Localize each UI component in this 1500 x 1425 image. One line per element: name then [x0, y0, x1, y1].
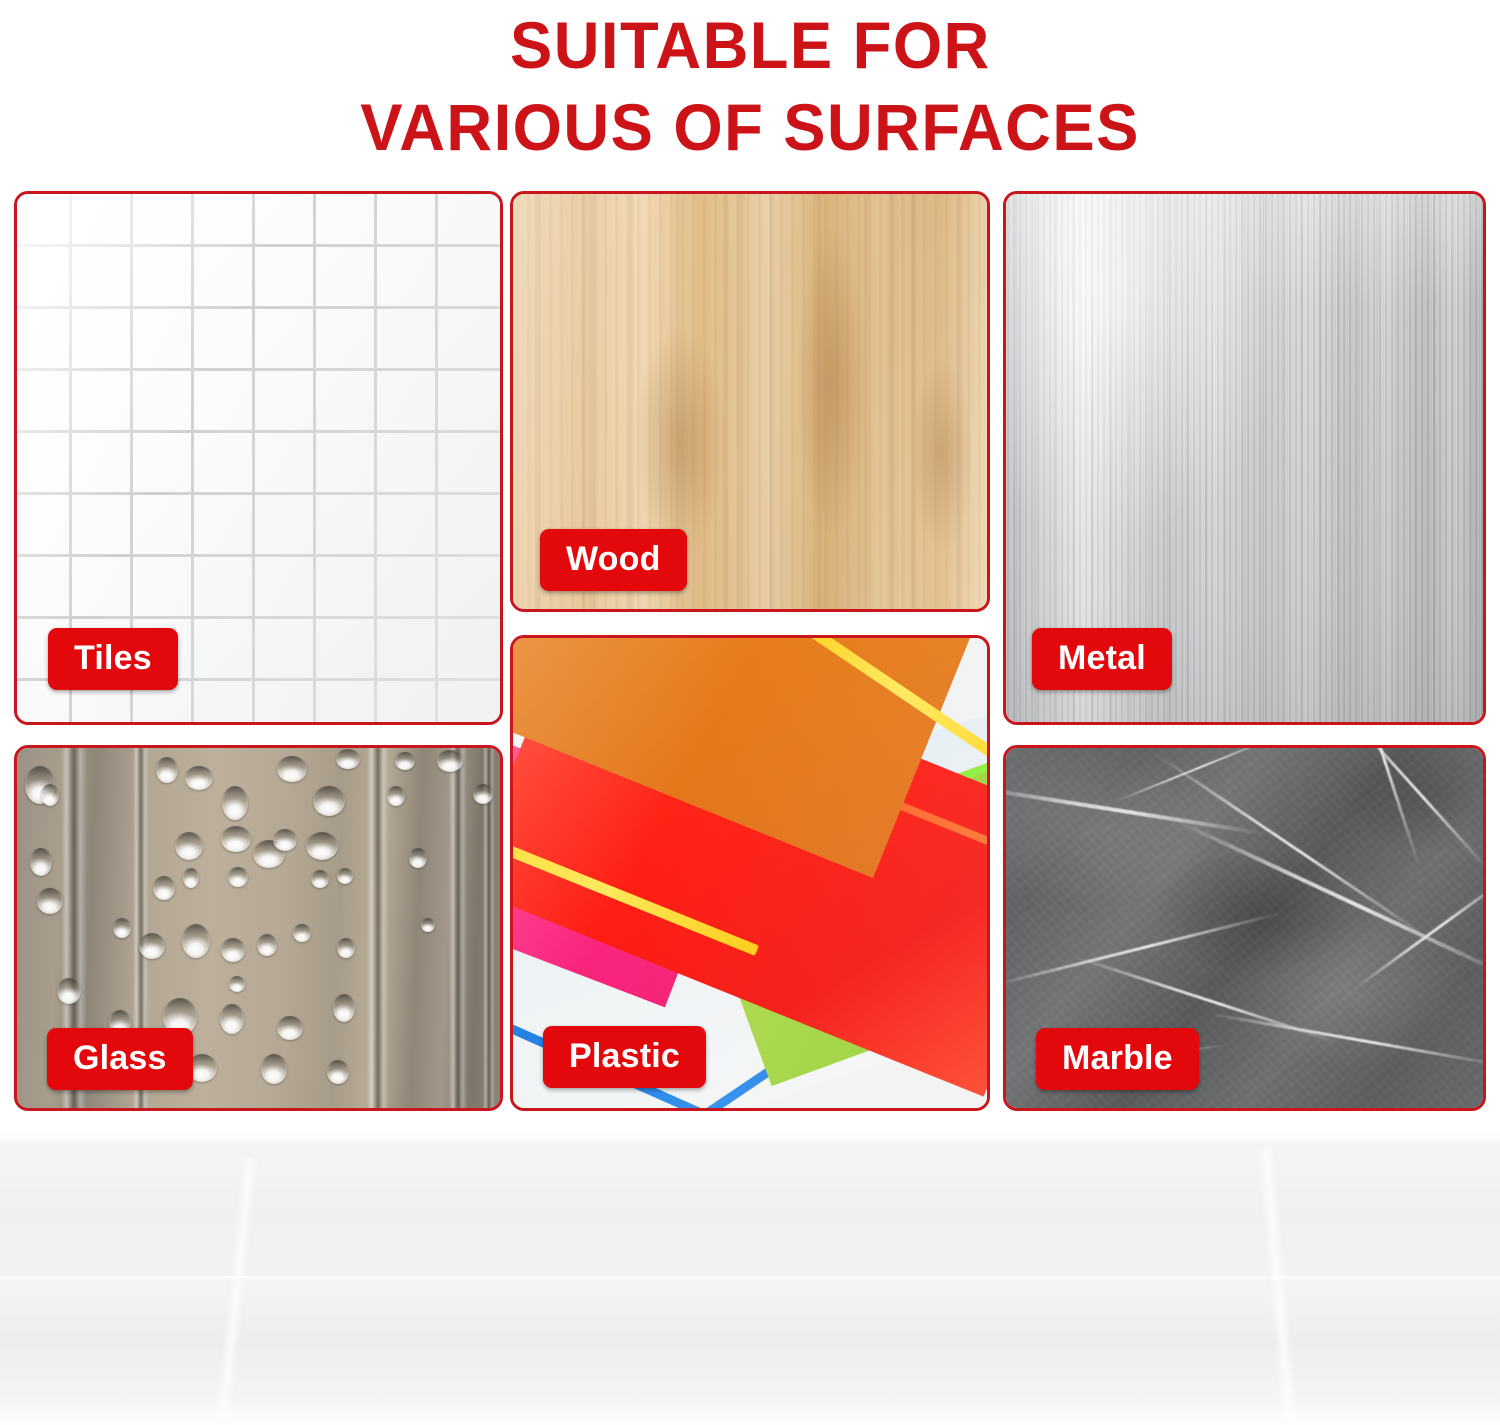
surface-sheen-1 — [216, 1158, 257, 1418]
status-badge-tiles: Tiles — [48, 628, 178, 690]
surface-seam — [0, 1276, 1500, 1281]
surface-panel-marble: Marble — [1003, 745, 1486, 1111]
surface-panel-plastic: Plastic — [510, 635, 990, 1111]
status-badge-marble: Marble — [1036, 1028, 1199, 1090]
surface-highlight-bottom — [0, 1407, 1500, 1425]
promo-image: SUITABLE FOR VARIOUS OF SURFACES Tiles W… — [0, 0, 1500, 1425]
surface-highlight-top — [0, 1128, 1500, 1138]
surface-panel-tiles: Tiles — [14, 191, 503, 725]
status-badge-metal: Metal — [1032, 628, 1172, 690]
title-line-1: SUITABLE FOR — [510, 4, 991, 86]
bottom-countertop-surface — [0, 1128, 1500, 1425]
status-badge-wood: Wood — [540, 529, 687, 591]
title-line-2: VARIOUS OF SURFACES — [360, 86, 1140, 168]
status-badge-plastic: Plastic — [543, 1026, 706, 1088]
surface-panel-metal: Metal — [1003, 191, 1486, 725]
page-title: SUITABLE FOR VARIOUS OF SURFACES — [0, 0, 1500, 180]
surface-panel-glass: Glass — [14, 745, 503, 1111]
status-badge-glass: Glass — [47, 1028, 193, 1090]
surface-panel-wood: Wood — [510, 191, 990, 612]
surface-sheen-2 — [1258, 1148, 1298, 1425]
